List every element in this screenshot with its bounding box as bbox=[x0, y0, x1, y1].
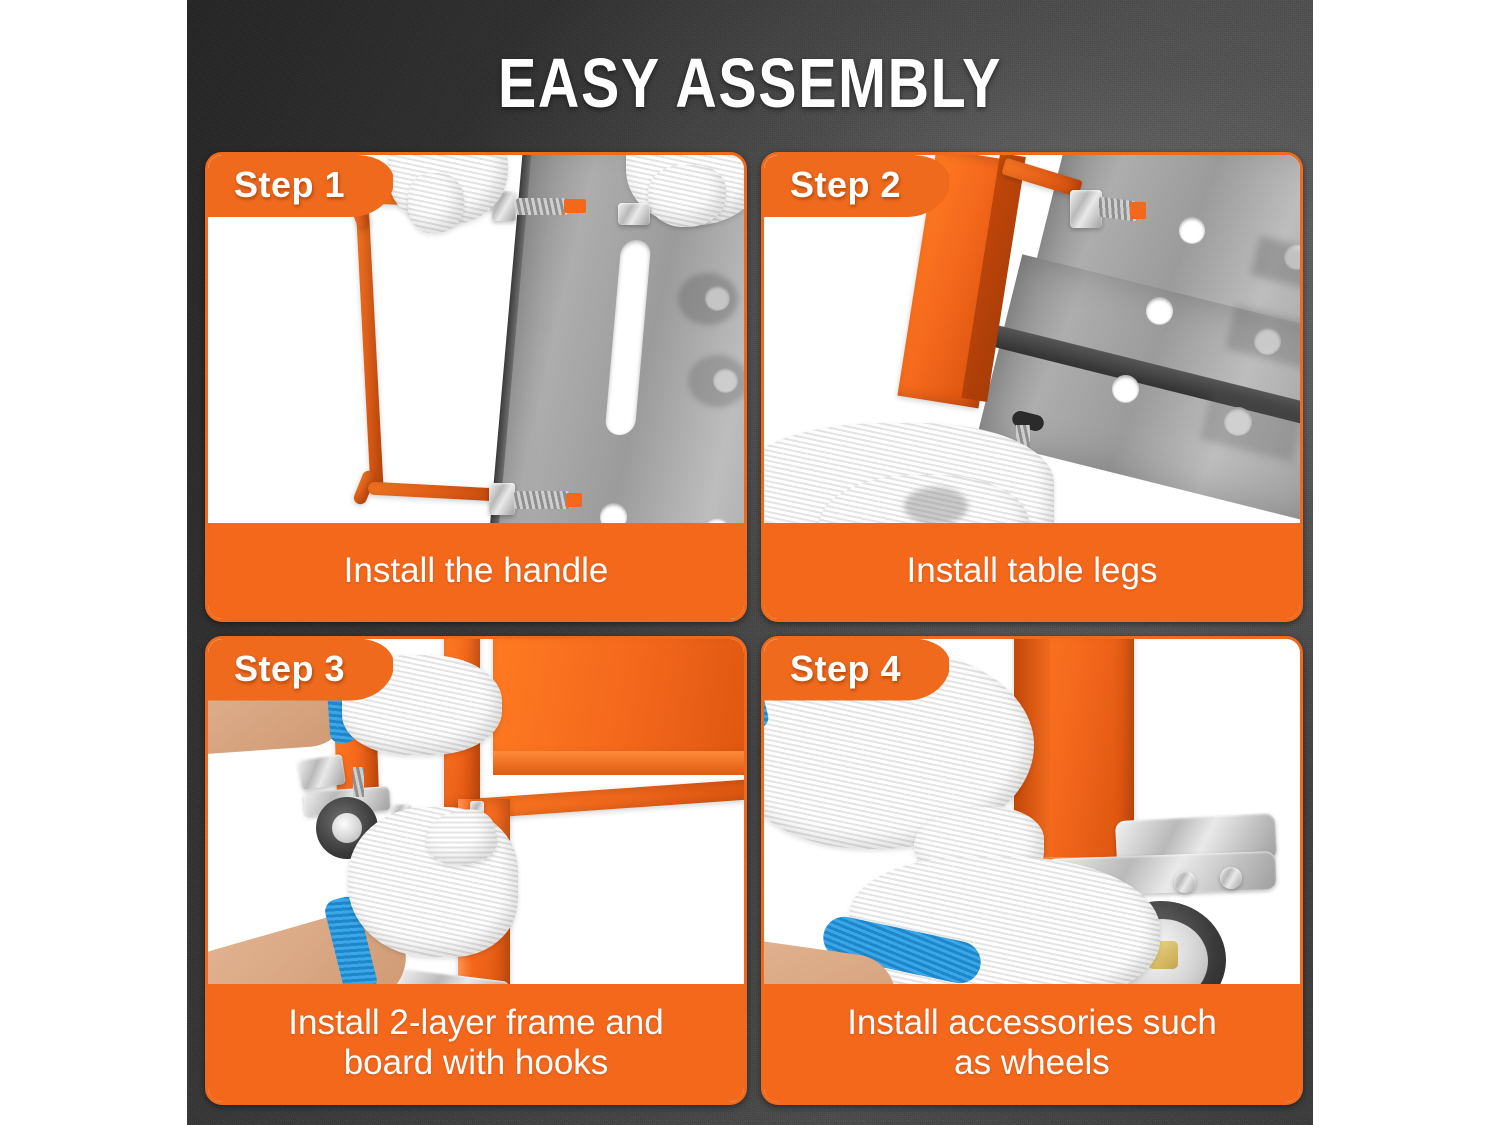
step-photo-1: Step 1 bbox=[208, 155, 744, 523]
page-title: EASY ASSEMBLY bbox=[288, 48, 1211, 118]
infographic-root: EASY ASSEMBLY bbox=[0, 0, 1500, 1125]
step-badge-3: Step 3 bbox=[208, 639, 393, 701]
step-caption-line-4-2: as wheels bbox=[847, 1043, 1217, 1083]
step-caption-line-3-2: board with hooks bbox=[288, 1043, 663, 1083]
step-photo-4: Step 4 bbox=[764, 639, 1300, 985]
step-card-4: Step 4 Install accessories such as wheel… bbox=[761, 636, 1303, 1106]
step-caption-4: Install accessories such as wheels bbox=[764, 984, 1300, 1102]
step-caption-1: Install the handle bbox=[208, 523, 744, 619]
step-caption-line-1-1: Install the handle bbox=[344, 551, 609, 591]
step-badge-2: Step 2 bbox=[764, 155, 949, 217]
steps-grid: Step 1 Install the handle bbox=[205, 152, 1303, 1105]
step-card-2: Step 2 Install table legs bbox=[761, 152, 1303, 622]
background-panel: EASY ASSEMBLY bbox=[187, 0, 1313, 1125]
step-caption-line-3-1: Install 2-layer frame and bbox=[288, 1003, 663, 1043]
step-badge-4: Step 4 bbox=[764, 639, 949, 701]
step-caption-line-4-1: Install accessories such bbox=[847, 1003, 1217, 1043]
step-card-1: Step 1 Install the handle bbox=[205, 152, 747, 622]
step-caption-line-2-1: Install table legs bbox=[907, 551, 1158, 591]
step-badge-label-3: Step 3 bbox=[234, 648, 345, 690]
step-badge-1: Step 1 bbox=[208, 155, 393, 217]
step-badge-label-4: Step 4 bbox=[790, 648, 901, 690]
step-card-3: Step 3 Install 2-layer frame and board w… bbox=[205, 636, 747, 1106]
step-badge-label-2: Step 2 bbox=[790, 164, 901, 206]
step-caption-3: Install 2-layer frame and board with hoo… bbox=[208, 984, 744, 1102]
step-photo-2: Step 2 bbox=[764, 155, 1300, 523]
step-caption-2: Install table legs bbox=[764, 523, 1300, 619]
step-badge-label-1: Step 1 bbox=[234, 164, 345, 206]
step-photo-3: Step 3 bbox=[208, 639, 744, 985]
